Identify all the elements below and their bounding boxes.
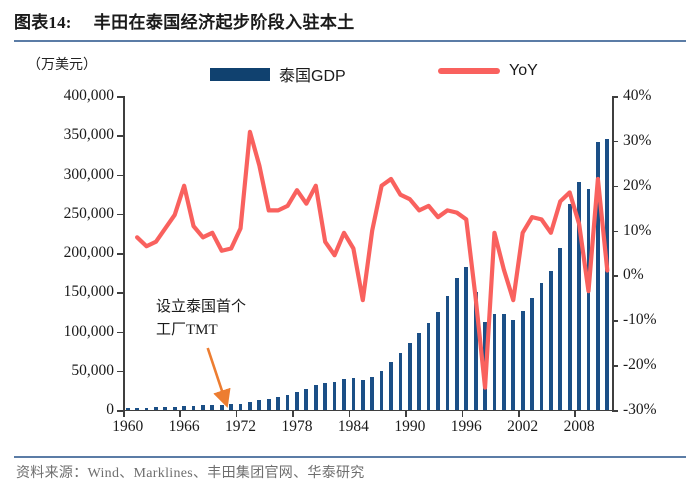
x-tick-label: 1990 bbox=[394, 418, 425, 436]
y-tick-label-left: 300,000 bbox=[6, 166, 114, 184]
y-tick-left bbox=[117, 135, 123, 137]
legend-label-gdp: 泰国GDP bbox=[279, 62, 346, 86]
y-tick-left bbox=[117, 332, 123, 334]
y-axis-unit-label: （万美元） bbox=[27, 54, 97, 74]
y-tick-right bbox=[612, 275, 618, 277]
y-tick-label-left: 200,000 bbox=[6, 244, 114, 262]
y-tick-label-right: 40% bbox=[623, 87, 651, 105]
x-tick bbox=[518, 410, 520, 417]
x-tick-label: 2008 bbox=[564, 418, 595, 436]
x-tick bbox=[123, 410, 125, 417]
y-tick-label-right: 20% bbox=[623, 177, 651, 195]
figure-number: 图表14: bbox=[14, 8, 72, 33]
y-tick-label-left: 150,000 bbox=[6, 283, 114, 301]
y-tick-left bbox=[117, 175, 123, 177]
y-tick-right bbox=[612, 231, 618, 233]
source-note: 资料来源：Wind、Marklines、丰田集团官网、华泰研究 bbox=[16, 462, 365, 482]
legend-line-swatch bbox=[438, 68, 500, 74]
y-tick-right bbox=[612, 365, 618, 367]
plot-area bbox=[123, 96, 613, 410]
x-tick bbox=[462, 410, 464, 417]
chart-legend: 泰国GDP YoY bbox=[210, 58, 630, 84]
y-tick-label-left: 400,000 bbox=[6, 87, 114, 105]
y-tick-label-right: -10% bbox=[623, 311, 657, 329]
y-tick-label-left: 250,000 bbox=[6, 205, 114, 223]
y-tick-label-right: 10% bbox=[623, 222, 651, 240]
chart-page: 图表14: 丰田在泰国经济起步阶段入驻本土 （万美元） 泰国GDP YoY 40… bbox=[0, 0, 700, 492]
y-tick-label-right: 30% bbox=[623, 132, 651, 150]
y-tick-left bbox=[117, 371, 123, 373]
y-tick-right bbox=[612, 186, 618, 188]
y-tick-left bbox=[117, 253, 123, 255]
x-tick-label: 1984 bbox=[338, 418, 369, 436]
annotation-line-2: 工厂TMT bbox=[156, 319, 246, 342]
x-tick bbox=[405, 410, 407, 417]
y-tick-label-left: 350,000 bbox=[6, 126, 114, 144]
x-tick-label: 1996 bbox=[451, 418, 482, 436]
legend-bar-swatch bbox=[210, 68, 270, 81]
y-tick-left bbox=[117, 96, 123, 98]
legend-label-yoy: YoY bbox=[509, 62, 538, 80]
x-tick bbox=[292, 410, 294, 417]
chart-header: 图表14: 丰田在泰国经济起步阶段入驻本土 bbox=[14, 8, 686, 42]
legend-item-gdp: 泰国GDP bbox=[210, 62, 346, 86]
y-tick-right bbox=[612, 320, 618, 322]
annotation-text: 设立泰国首个 工厂TMT bbox=[156, 296, 246, 341]
y-tick-label-right: -20% bbox=[623, 356, 657, 374]
x-tick bbox=[574, 410, 576, 417]
line-series-yoy bbox=[123, 96, 613, 410]
x-tick-label: 2002 bbox=[507, 418, 538, 436]
x-tick bbox=[349, 410, 351, 417]
y-tick-left bbox=[117, 292, 123, 294]
y-tick-left bbox=[117, 214, 123, 216]
x-tick bbox=[236, 410, 238, 417]
annotation-line-1: 设立泰国首个 bbox=[156, 296, 246, 319]
y-tick-label-left: 0 bbox=[6, 401, 114, 419]
y-tick-right bbox=[612, 141, 618, 143]
footer-divider bbox=[14, 456, 686, 458]
header-divider bbox=[14, 40, 686, 42]
x-tick-label: 1966 bbox=[169, 418, 200, 436]
y-tick-label-left: 50,000 bbox=[6, 362, 114, 380]
x-tick-label: 1972 bbox=[225, 418, 256, 436]
y-tick-right bbox=[612, 96, 618, 98]
page-title: 丰田在泰国经济起步阶段入驻本土 bbox=[94, 8, 355, 33]
x-tick bbox=[179, 410, 181, 417]
legend-item-yoy: YoY bbox=[438, 62, 538, 80]
y-tick-label-right: -30% bbox=[623, 401, 657, 419]
x-tick-label: 1960 bbox=[112, 418, 143, 436]
y-tick-label-right: 0% bbox=[623, 266, 644, 284]
y-tick-right bbox=[612, 410, 618, 412]
y-tick-label-left: 100,000 bbox=[6, 323, 114, 341]
x-tick-label: 1978 bbox=[281, 418, 312, 436]
